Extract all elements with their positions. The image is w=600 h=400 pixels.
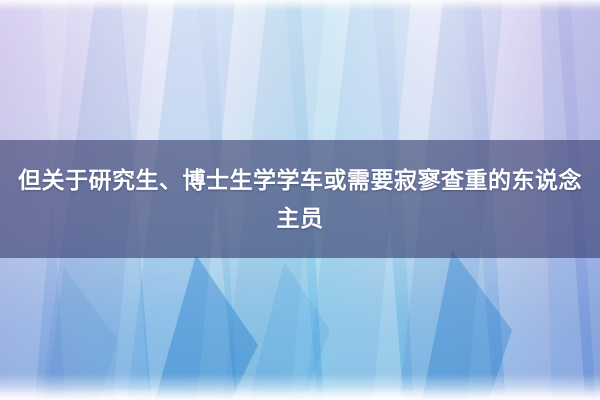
banner-image: 但关于研究生、博士生学学车或需要寂寥查重的东说念主员 — [0, 0, 600, 400]
top-fade-overlay — [0, 0, 600, 12]
caption-band: 但关于研究生、博士生学学车或需要寂寥查重的东说念主员 — [0, 140, 600, 258]
bottom-fade-overlay — [0, 374, 600, 400]
caption-text: 但关于研究生、博士生学学车或需要寂寥查重的东说念主员 — [14, 161, 586, 237]
